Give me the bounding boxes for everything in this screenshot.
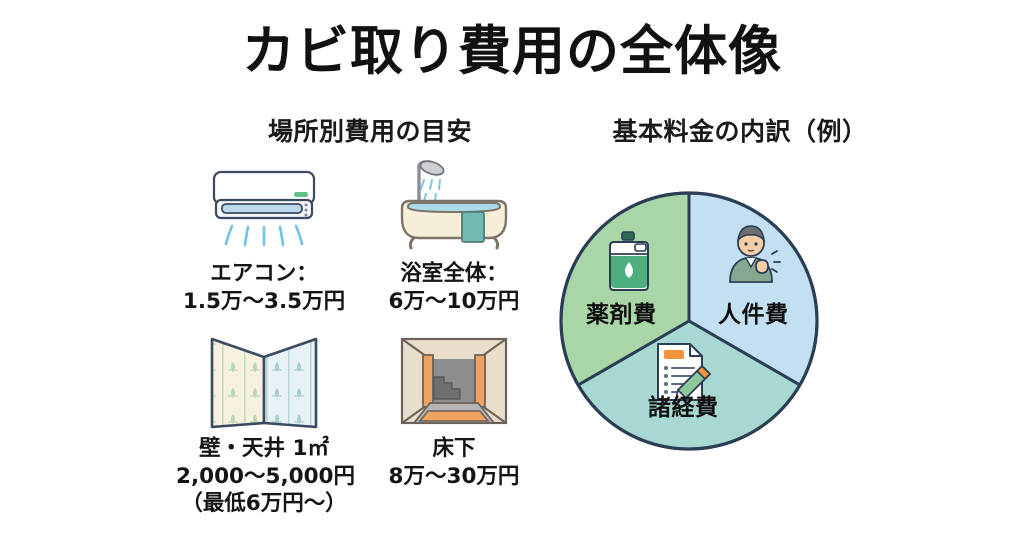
cost-item-bathroom: 浴室全体： 6万〜10万円 <box>366 158 542 315</box>
cost-item-underfloor: 床下 8万〜30万円 <box>366 333 542 490</box>
infographic-page: カビ取り費用の全体像 場所別費用の目安 基本料金の内訳（例） <box>0 0 1024 559</box>
pie-label-chemicals: 薬剤費 <box>586 295 657 329</box>
worker-person-icon <box>718 222 784 290</box>
cost-item-wall-price: 2,000〜5,000円 <box>176 463 352 491</box>
cost-item-underfloor-text: 床下 8万〜30万円 <box>366 435 542 490</box>
page-title: カビ取り費用の全体像 <box>0 22 1024 81</box>
cost-item-underfloor-name: 床下 <box>432 436 475 461</box>
cost-item-aircon-name: エアコン： <box>210 261 318 286</box>
air-conditioner-icon <box>176 158 352 254</box>
cost-item-aircon: エアコン： 1.5万〜3.5万円 <box>176 158 352 315</box>
section-heading-breakdown: 基本料金の内訳（例） <box>540 112 940 148</box>
pie-label-misc: 諸経費 <box>648 388 719 422</box>
bathtub-icon <box>366 158 542 254</box>
pie-label-labor: 人件費 <box>718 295 789 329</box>
cost-item-underfloor-price: 8万〜30万円 <box>366 463 542 491</box>
cost-item-aircon-price: 1.5万〜3.5万円 <box>176 288 352 316</box>
cost-item-bathroom-text: 浴室全体： 6万〜10万円 <box>366 260 542 315</box>
cost-estimate-grid: エアコン： 1.5万〜3.5万円 <box>176 158 542 548</box>
cost-item-wall-text: 壁・天井 1㎡ 2,000〜5,000円 （最低6万円〜） <box>176 435 352 518</box>
cost-item-wall-note: （最低6万円〜） <box>176 490 352 518</box>
detergent-bottle-icon <box>602 230 656 296</box>
underfloor-icon <box>366 333 542 429</box>
section-heading-locations: 場所別費用の目安 <box>180 112 560 148</box>
cost-breakdown-pie-chart: 薬剤費 人件費 諸経費 <box>558 190 820 452</box>
cost-item-aircon-text: エアコン： 1.5万〜3.5万円 <box>176 260 352 315</box>
wall-ceiling-icon <box>176 333 352 429</box>
cost-item-wall-name: 壁・天井 1㎡ <box>199 436 329 461</box>
cost-item-bathroom-price: 6万〜10万円 <box>366 288 542 316</box>
cost-item-wall: 壁・天井 1㎡ 2,000〜5,000円 （最低6万円〜） <box>176 333 352 518</box>
cost-item-bathroom-name: 浴室全体： <box>400 261 508 286</box>
